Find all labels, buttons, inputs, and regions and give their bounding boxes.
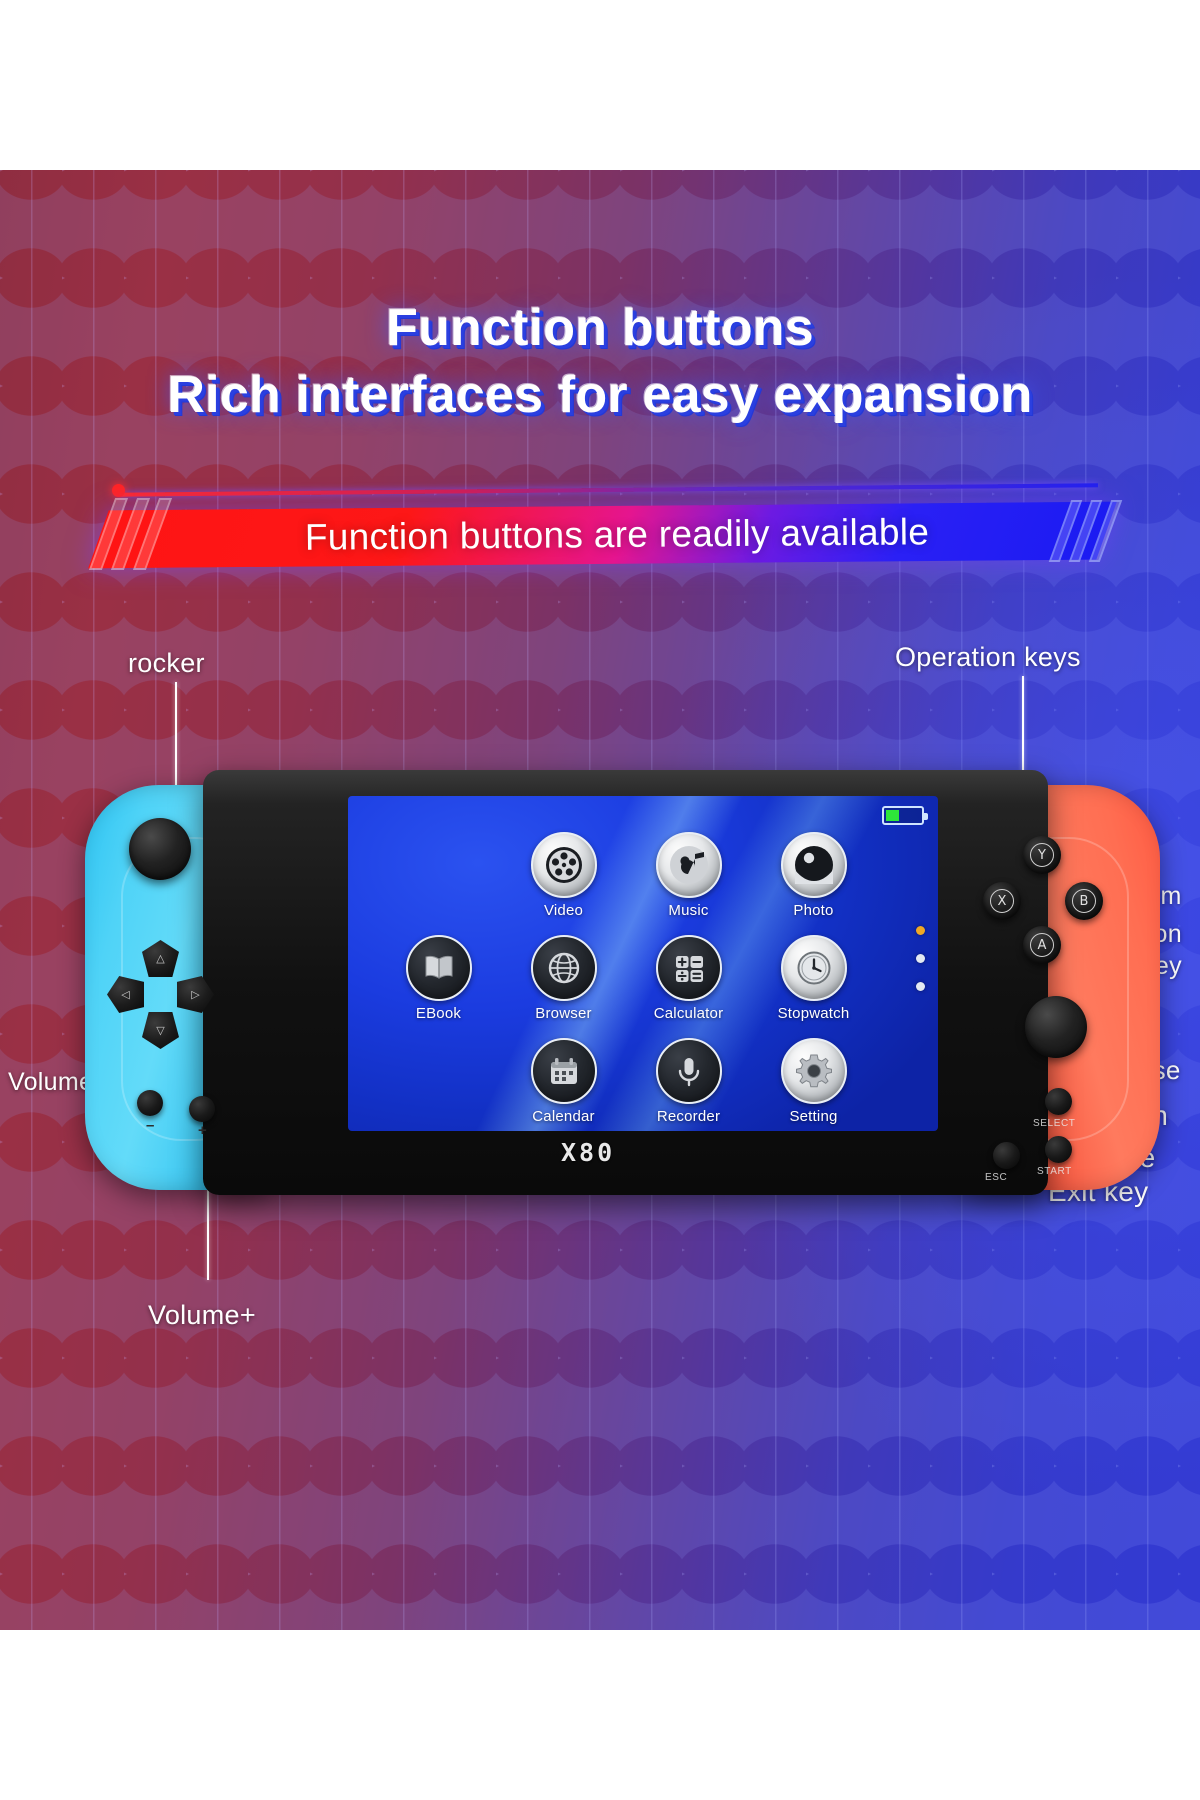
app-recorder[interactable]: Recorder bbox=[626, 1038, 751, 1125]
left-analog-stick[interactable] bbox=[129, 818, 191, 880]
headline-line-1: Function buttons bbox=[0, 298, 1200, 358]
app-label: Stopwatch bbox=[751, 1005, 876, 1022]
callout-volume-plus: Volume+ bbox=[148, 1300, 256, 1331]
photo-icon bbox=[781, 832, 847, 898]
app-music[interactable]: Music bbox=[626, 832, 751, 919]
ribbon-accent-dot bbox=[112, 484, 125, 497]
subtitle-ribbon: Function buttons are readily available bbox=[100, 470, 1110, 580]
music-note-icon bbox=[656, 832, 722, 898]
app-label: Recorder bbox=[626, 1108, 751, 1125]
open-book-icon bbox=[406, 935, 472, 1001]
app-label: Music bbox=[626, 902, 751, 919]
button-x-label: X bbox=[990, 889, 1014, 913]
button-y[interactable]: Y bbox=[1023, 836, 1061, 874]
film-reel-icon bbox=[531, 832, 597, 898]
button-y-label: Y bbox=[1030, 843, 1054, 867]
app-label: Browser bbox=[501, 1005, 626, 1022]
gear-icon bbox=[781, 1038, 847, 1104]
app-label: Video bbox=[501, 902, 626, 919]
console-screen: Video Music bbox=[348, 796, 938, 1131]
banner-artwork: Function buttons Rich interfaces for eas… bbox=[0, 170, 1200, 1630]
app-label: Calculator bbox=[626, 1005, 751, 1022]
volume-minus-sign: – bbox=[146, 1117, 154, 1134]
start-button[interactable] bbox=[1045, 1136, 1072, 1163]
page-indicator[interactable] bbox=[916, 926, 925, 991]
page-dot[interactable] bbox=[916, 982, 925, 991]
button-x[interactable]: X bbox=[983, 882, 1021, 920]
product-marketing-image: Function buttons Rich interfaces for eas… bbox=[0, 0, 1200, 1800]
button-b-label: B bbox=[1072, 889, 1096, 913]
ribbon-accent-line bbox=[118, 483, 1098, 496]
console-body: Video Music bbox=[203, 770, 1048, 1195]
app-calendar[interactable]: Calendar bbox=[501, 1038, 626, 1125]
button-a[interactable]: A bbox=[1023, 926, 1061, 964]
volume-down-button[interactable] bbox=[137, 1090, 163, 1116]
app-label: EBook bbox=[376, 1005, 501, 1022]
app-setting[interactable]: Setting bbox=[751, 1038, 876, 1125]
clock-icon bbox=[781, 935, 847, 1001]
app-calculator[interactable]: Calculator bbox=[626, 935, 751, 1022]
battery-fill bbox=[886, 810, 899, 821]
callout-operation-keys: Operation keys bbox=[895, 642, 1081, 673]
start-button-label: START bbox=[1037, 1166, 1072, 1177]
page-dot[interactable] bbox=[916, 954, 925, 963]
app-stopwatch[interactable]: Stopwatch bbox=[751, 935, 876, 1022]
globe-icon bbox=[531, 935, 597, 1001]
device-logo: X80 bbox=[561, 1138, 615, 1167]
ribbon-text: Function buttons are readily available bbox=[172, 510, 1062, 560]
calendar-icon bbox=[531, 1038, 597, 1104]
page-dot-active[interactable] bbox=[916, 926, 925, 935]
app-label: Calendar bbox=[501, 1108, 626, 1125]
app-grid: Video Music bbox=[376, 832, 876, 1131]
right-analog-stick[interactable] bbox=[1025, 996, 1087, 1058]
microphone-icon bbox=[656, 1038, 722, 1104]
esc-button-label: ESC bbox=[985, 1172, 1007, 1183]
button-b[interactable]: B bbox=[1065, 882, 1103, 920]
calculator-icon bbox=[656, 935, 722, 1001]
volume-up-button[interactable] bbox=[189, 1096, 215, 1122]
select-button[interactable] bbox=[1045, 1088, 1072, 1115]
handheld-game-console: Video Music bbox=[85, 770, 1165, 1200]
battery-icon bbox=[882, 806, 924, 825]
app-video[interactable]: Video bbox=[501, 832, 626, 919]
button-a-label: A bbox=[1030, 933, 1054, 957]
app-label: Setting bbox=[751, 1108, 876, 1125]
app-label: Photo bbox=[751, 902, 876, 919]
app-ebook[interactable]: EBook bbox=[376, 935, 501, 1022]
app-photo[interactable]: Photo bbox=[751, 832, 876, 919]
select-button-label: SELECT bbox=[1033, 1118, 1076, 1129]
headline-line-2: Rich interfaces for easy expansion bbox=[0, 365, 1200, 425]
esc-button[interactable] bbox=[993, 1142, 1020, 1169]
app-browser[interactable]: Browser bbox=[501, 935, 626, 1022]
volume-plus-sign: + bbox=[198, 1122, 207, 1139]
callout-rocker: rocker bbox=[128, 648, 205, 679]
